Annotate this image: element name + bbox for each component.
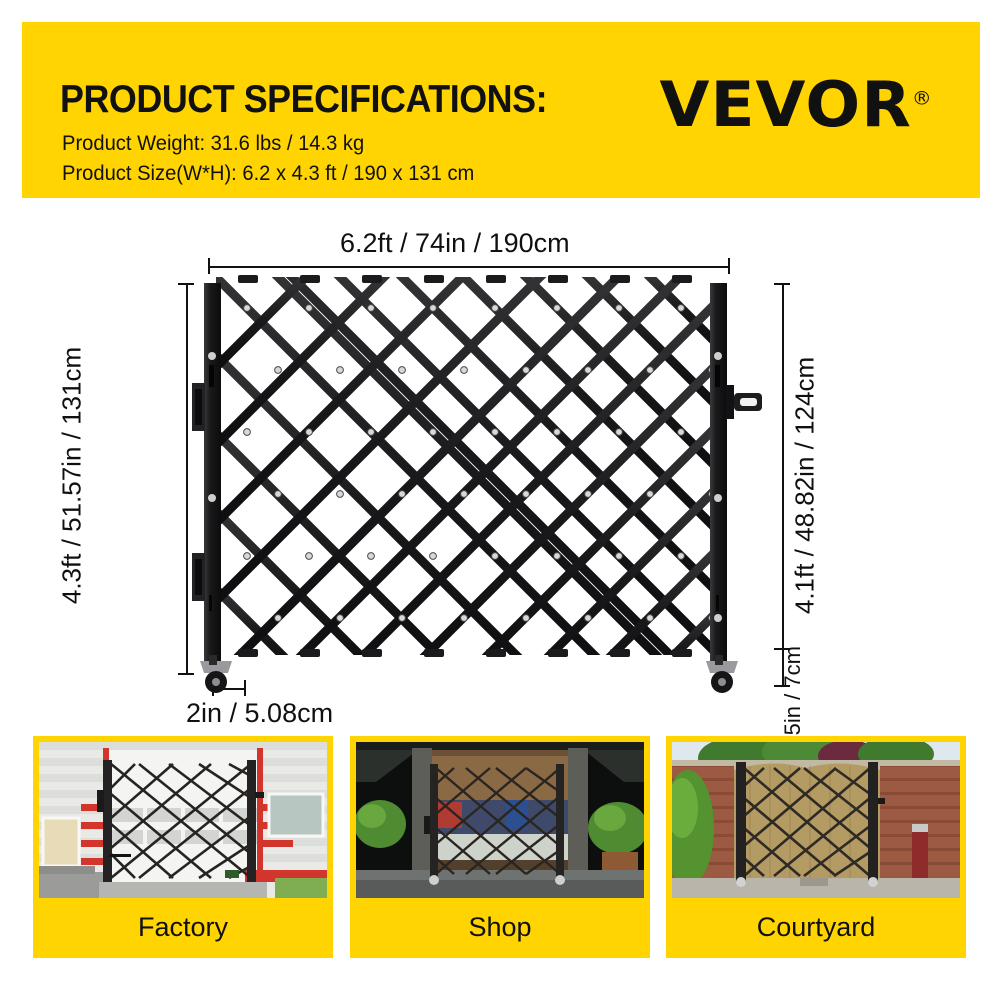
application-caption-courtyard: Courtyard [672, 898, 960, 956]
gate-svg [0, 215, 1000, 725]
product-illustration [0, 215, 1000, 725]
application-photo-shop [356, 742, 644, 898]
application-photo-factory [39, 742, 327, 898]
spec-weight: Product Weight: 31.6 lbs / 14.3 kg [62, 132, 364, 156]
application-gallery: Factory [0, 736, 1000, 966]
hinge-lower [192, 553, 205, 601]
application-photo-courtyard [672, 742, 960, 898]
left-post [192, 283, 221, 661]
registered-trademark-icon: ® [912, 87, 932, 109]
right-post [710, 283, 762, 661]
application-caption-factory: Factory [39, 898, 327, 956]
latch-handle [726, 385, 762, 419]
product-spec-sheet: PRODUCT SPECIFICATIONS: Product Weight: … [0, 0, 1000, 1000]
hinge-upper [192, 383, 205, 431]
brand-name: VEVOR [660, 68, 912, 141]
lattice-bottom-caps [238, 649, 692, 657]
application-card-shop[interactable]: Shop [350, 736, 650, 958]
lattice-mesh [216, 215, 714, 679]
application-card-courtyard[interactable]: Courtyard [666, 736, 966, 958]
header-band: PRODUCT SPECIFICATIONS: Product Weight: … [22, 22, 980, 198]
application-card-factory[interactable]: Factory [33, 736, 333, 958]
spec-size: Product Size(W*H): 6.2 x 4.3 ft / 190 x … [62, 162, 474, 186]
brand-logo: VEVOR® [660, 74, 932, 136]
page-title: PRODUCT SPECIFICATIONS: [60, 78, 547, 122]
application-caption-shop: Shop [356, 898, 644, 956]
